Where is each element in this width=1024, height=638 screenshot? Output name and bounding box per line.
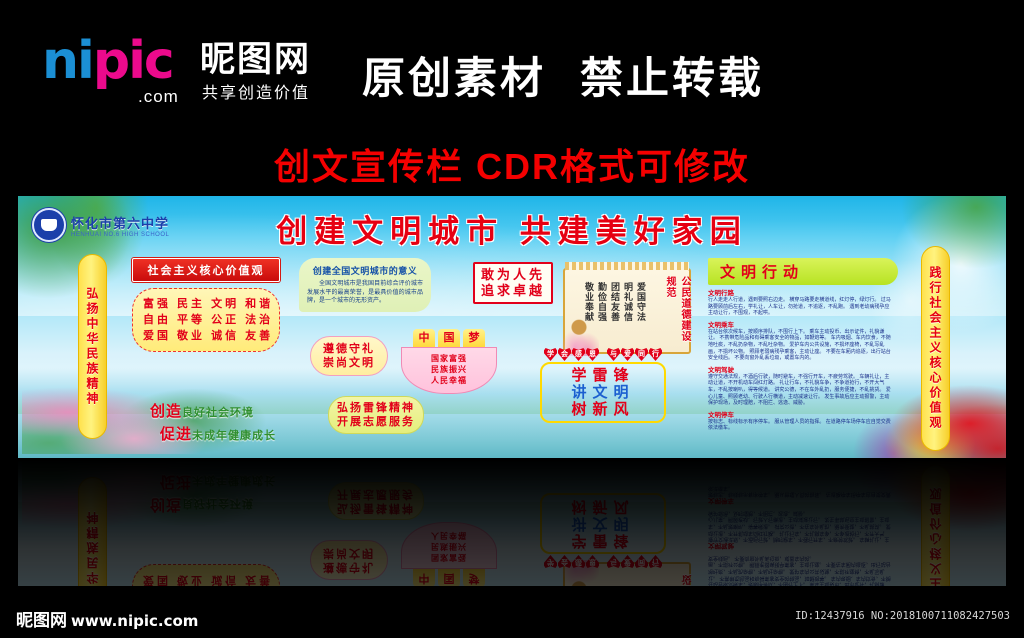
core-values-row: 爱国 敬业 诚信 友善 <box>143 328 269 344</box>
vertical-banner-left: 弘扬中华民族精神 <box>78 254 107 439</box>
morality-side-title: 公民道德建设规范 <box>662 276 692 352</box>
lei-feng-line: 讲文明 <box>548 515 658 532</box>
heart-icon: 同 <box>635 348 648 361</box>
civilized-city-meaning-panel: 创建全国文明城市的意义 全国文明城市是我国目前综合评价城市发展水平的最高荣誉，是… <box>299 258 431 312</box>
poster-board: 怀化市第六中学 HENHUAI NO.6 HIGH SCHOOL 创建文明城市 … <box>18 196 1006 458</box>
civil-action-section-body: 在站台依次候车，按顺序排队，不围行上下。 乘车主动投币、出示证件，礼貌谦让。 不… <box>708 329 894 362</box>
china-dream-bubble: 国家富强 民族振兴 人民幸福 <box>401 347 497 394</box>
brush-line-1-small: 良好社会环境 <box>182 497 254 509</box>
china-dream-panel: 中 国 梦 国家富强 民族振兴 人民幸福 <box>401 522 497 586</box>
citizen-morality-panel: 爱国守法 明礼诚信 团结友善 勤俭自强 敬业奉献 公民道德建设规范 <box>563 268 691 354</box>
china-dream-cap: 梦 <box>463 569 485 586</box>
china-dream-cap: 中 <box>413 569 435 586</box>
civil-action-section-title: 文明驾驶 <box>708 542 894 552</box>
daring-line-2: 追求卓越 <box>481 283 545 299</box>
heart-icon: 与 <box>607 348 620 361</box>
lei-feng-panel: 学 会 感 恩 与 爱 同 行 学雷锋 讲文明 树新风 <box>540 348 666 423</box>
civil-action-panel: 文明行动 文明行路 行人走走人行道，遇到要照右边走。 横穿马路要走横道线，红灯停… <box>708 484 898 586</box>
brush-line-1-big: 创造 <box>150 496 182 513</box>
meaning-body: 全国文明城市是我国目前综合评价城市发展水平的最高荣誉，是最具价值的城市品牌，是一… <box>307 280 423 306</box>
brush-line-1: 创造良好社会环境 <box>150 400 276 421</box>
volunteer-line-2: 开展志愿服务 <box>337 415 415 429</box>
morality-top-border <box>565 262 689 270</box>
lei-feng-hearts: 学 会 感 恩 与 爱 同 行 <box>540 348 666 361</box>
brush-line-2-small: 未成年健康成长 <box>192 474 276 486</box>
heart-icon: 恩 <box>586 555 599 568</box>
china-dream-row: 国家富强 <box>410 353 488 364</box>
wordmark-pic: pic <box>93 31 173 91</box>
brush-line-1: 创造良好社会环境 <box>150 495 276 516</box>
footer-site-url: www.nipic.com <box>71 612 198 630</box>
heart-icon: 行 <box>649 555 662 568</box>
headline-part-1: 原创素材 <box>362 55 546 103</box>
morality-column: 爱国守法 <box>635 282 646 322</box>
brush-line-2-big: 促进 <box>160 426 192 443</box>
china-dream-row: 民族振兴 <box>410 541 488 552</box>
nipic-logo: nipic .com 昵图网 共享创造价值 <box>42 35 342 115</box>
virtue-line-2: 崇尚文明 <box>323 356 375 370</box>
board-reflection: 怀化市第六中学 HENHUAI NO.6 HIGH SCHOOL 创建文明城市 … <box>18 458 1006 586</box>
brush-line-2-small: 未成年健康成长 <box>192 430 276 442</box>
virtue-cloud-panel: 遵德守礼 崇尚文明 <box>310 336 388 376</box>
heart-icon: 行 <box>649 348 662 361</box>
board-reflection-copy: 怀化市第六中学 HENHUAI NO.6 HIGH SCHOOL 创建文明城市 … <box>18 458 1006 586</box>
core-values-row: 富强 民主 文明 和谐 <box>143 296 269 312</box>
civil-action-section-body: 遵守交通法规，不酒后行驶，随时避车，不强行开车，不疲劳驾驶。 车辆礼让，主动让道… <box>708 374 894 407</box>
core-values-panel: 社会主义核心价值观 富强 民主 文明 和谐 自由 平等 公正 法治 爱国 敬业 … <box>132 564 280 586</box>
meaning-title: 创建全国文明城市的意义 <box>307 264 423 277</box>
morality-side-title: 公民道德建设规范 <box>662 564 692 586</box>
brush-slogan-panel: 创造良好社会环境 促进未成年健康成长 <box>150 472 276 516</box>
screenshot-root: nipic .com 昵图网 共享创造价值 原创素材禁止转载 创文宣传栏 CDR… <box>0 0 1024 638</box>
footer-id-text: ID:12437916 NO:2018100711082427503 <box>795 610 1010 622</box>
china-dream-cap: 梦 <box>463 329 485 347</box>
heart-icon: 爱 <box>621 555 634 568</box>
daring-slogan-panel: 敢为人先 追求卓越 <box>473 262 553 304</box>
lei-feng-box: 学雷锋 讲文明 树新风 <box>540 362 666 423</box>
brand-cn-text: 昵图网 <box>200 31 311 82</box>
core-values-body: 富强 民主 文明 和谐 自由 平等 公正 法治 爱国 敬业 诚信 友善 <box>132 288 280 352</box>
china-dream-row: 人民幸福 <box>410 375 488 386</box>
lei-feng-box: 学雷锋 讲文明 树新风 <box>540 493 666 554</box>
china-dream-row: 人民幸福 <box>410 530 488 541</box>
civil-action-section-title: 文明行路 <box>708 287 894 297</box>
civil-action-section-title: 文明乘车 <box>708 319 894 329</box>
heart-icon: 感 <box>572 555 585 568</box>
watermark-headline: 原创素材禁止转载 <box>362 44 764 106</box>
virtue-cloud-panel: 遵德守礼 崇尚文明 <box>310 540 388 580</box>
lei-feng-line: 树新风 <box>548 401 658 418</box>
civil-action-panel: 文明行动 文明行路 行人走走人行道，遇到要照右边走。 横穿马路要走横道线，红灯停… <box>708 258 898 432</box>
civil-action-section-body: 按标志、标线标示有序停车。 服从管理人员的指挥。 在道路停车场停车应自觉交费依法… <box>708 419 894 432</box>
volunteer-panel: 弘扬雷锋精神 开展志愿服务 <box>328 482 424 520</box>
civil-action-section-body: 遵守交通法规，不酒后行驶，随时避车，不强行开车，不疲劳驾驶。 车辆礼让，主动让道… <box>708 509 894 542</box>
china-dream-panel: 中 国 梦 国家富强 民族振兴 人民幸福 <box>401 329 497 394</box>
china-dream-caps: 中 国 梦 <box>401 329 497 347</box>
civil-action-section-title: 文明停车 <box>708 409 894 419</box>
heart-icon: 感 <box>572 348 585 361</box>
brush-line-1-small: 良好社会环境 <box>182 407 254 419</box>
board-title: 创建文明城市 共建美好家园 <box>18 206 1006 251</box>
volunteer-line-1: 弘扬雷锋精神 <box>337 401 415 415</box>
morality-column: 明礼诚信 <box>622 282 633 322</box>
heart-icon: 与 <box>607 555 620 568</box>
civil-action-section-body: 按标志、标线标示有序停车。 服从管理人员的指挥。 在道路停车场停车应自觉交费依法… <box>708 484 894 497</box>
china-dream-cap: 国 <box>438 569 460 586</box>
brush-line-2-big: 促进 <box>160 473 192 490</box>
china-dream-cap: 国 <box>438 329 460 347</box>
core-values-row: 自由 平等 公正 法治 <box>143 312 269 328</box>
heart-icon: 会 <box>558 555 571 568</box>
lei-feng-panel: 学 会 感 恩 与 爱 同 行 学雷锋 讲文明 树新风 <box>540 493 666 568</box>
vertical-banner-right: 践行社会主义核心价值观 <box>921 246 950 451</box>
heart-icon: 学 <box>544 555 557 568</box>
wordmark-ni: ni <box>42 31 93 91</box>
volunteer-panel: 弘扬雷锋精神 开展志愿服务 <box>328 396 424 434</box>
footer-bar: 昵图网www.nipic.com ID:12437916 NO:20181007… <box>0 596 1024 638</box>
lei-feng-line: 树新风 <box>548 498 658 515</box>
watermark-subline: 创文宣传栏 CDR格式可修改 <box>0 138 1024 190</box>
virtue-line-2: 崇尚文明 <box>323 546 375 560</box>
core-values-row: 爱国 敬业 诚信 友善 <box>143 572 269 586</box>
lei-feng-line: 学雷锋 <box>548 367 658 384</box>
lei-feng-hearts: 学 会 感 恩 与 爱 同 行 <box>540 555 666 568</box>
morality-column: 团结友善 <box>609 282 620 322</box>
china-dream-row: 民族振兴 <box>410 364 488 375</box>
core-values-panel: 社会主义核心价值观 富强 民主 文明 和谐 自由 平等 公正 法治 爱国 敬业 … <box>132 258 280 352</box>
brush-line-2: 促进未成年健康成长 <box>160 472 276 493</box>
footer-brand-cn: 昵图网 <box>16 611 67 630</box>
heart-icon: 学 <box>544 348 557 361</box>
china-dream-cap: 中 <box>413 329 435 347</box>
poster-board: 怀化市第六中学 HENHUAI NO.6 HIGH SCHOOL 创建文明城市 … <box>18 458 1006 586</box>
china-dream-caps: 中 国 梦 <box>401 569 497 586</box>
civil-action-section-title: 文明停车 <box>708 497 894 507</box>
brush-line-1-big: 创造 <box>150 403 182 420</box>
civil-action-section-title: 文明驾驶 <box>708 364 894 374</box>
footer-watermark: 昵图网www.nipic.com <box>16 606 198 631</box>
civil-action-header: 文明行动 <box>708 258 898 285</box>
heart-icon: 爱 <box>621 348 634 361</box>
china-dream-row: 国家富强 <box>410 552 488 563</box>
core-values-body: 富强 民主 文明 和谐 自由 平等 公正 法治 爱国 敬业 诚信 友善 <box>132 564 280 586</box>
brush-slogan-panel: 创造良好社会环境 促进未成年健康成长 <box>150 400 276 444</box>
brush-line-2: 促进未成年健康成长 <box>160 423 276 444</box>
china-dream-bubble: 国家富强 民族振兴 人民幸福 <box>401 522 497 569</box>
civil-action-section-body: 在站台依次候车，按顺序排队，不围行上下。 乘车主动投币、出示证件，礼貌谦让。 不… <box>708 554 894 586</box>
civil-action-section-body: 行人走走人行道，遇到要照右边走。 横穿马路要走横道线，红灯停，绿灯行。 过马路要… <box>708 297 894 317</box>
heart-icon: 会 <box>558 348 571 361</box>
heart-icon: 恩 <box>586 348 599 361</box>
vertical-banner-right: 践行社会主义核心价值观 <box>921 465 950 586</box>
dotcom-text: .com <box>138 87 179 107</box>
daring-line-1: 敢为人先 <box>481 267 545 283</box>
brand-slogan: 共享创造价值 <box>202 79 310 103</box>
lei-feng-line: 学雷锋 <box>548 532 658 549</box>
virtue-line-1: 遵德守礼 <box>323 342 375 356</box>
civil-action-body: 文明行路 行人走走人行道，遇到要照右边走。 横穿马路要走横道线，红灯停，绿灯行。… <box>708 287 894 432</box>
watermark-header: nipic .com 昵图网 共享创造价值 原创素材禁止转载 创文宣传栏 CDR… <box>0 0 1024 190</box>
vertical-banner-left: 弘扬中华民族精神 <box>78 477 107 586</box>
heart-icon: 同 <box>635 555 648 568</box>
virtue-line-1: 遵德守礼 <box>323 560 375 574</box>
lei-feng-line: 讲文明 <box>548 384 658 401</box>
volunteer-line-2: 开展志愿服务 <box>337 487 415 501</box>
civil-action-body: 文明行路 行人走走人行道，遇到要照右边走。 横穿马路要走横道线，红灯停，绿灯行。… <box>708 484 894 586</box>
headline-part-2: 禁止转载 <box>580 55 764 103</box>
volunteer-line-1: 弘扬雷锋精神 <box>337 501 415 515</box>
core-values-header: 社会主义核心价值观 <box>132 258 280 282</box>
